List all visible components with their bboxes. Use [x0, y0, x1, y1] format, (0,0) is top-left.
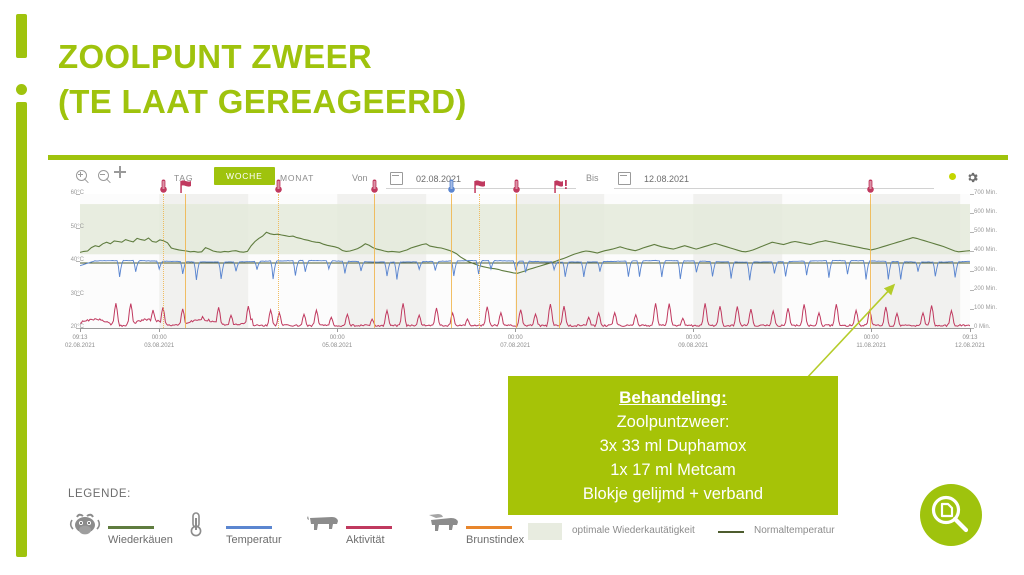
- event-marker-line: [451, 194, 452, 328]
- status-dot: [949, 173, 956, 180]
- y-axis-label-left: 20°C: [71, 324, 84, 330]
- range-button-monat[interactable]: MONAT: [280, 173, 314, 183]
- legend-item: Aktivität: [306, 510, 421, 550]
- y-axis-label-right: 100 Min.: [974, 305, 997, 311]
- y-axis-label-right: 600 Min.: [974, 209, 997, 215]
- event-marker-line: [374, 194, 375, 328]
- x-axis-label: 00:0003.08.2021: [129, 335, 189, 350]
- thermometer-red-icon[interactable]: [511, 179, 522, 194]
- legend-item: Temperatur: [186, 510, 301, 550]
- from-label: Von: [352, 173, 368, 183]
- flag-red-icon[interactable]: [474, 179, 485, 194]
- flag-red-icon[interactable]: [180, 179, 191, 194]
- cow-mounting-icon: [426, 512, 460, 538]
- x-tick: [871, 328, 872, 332]
- event-marker-line: [163, 194, 165, 328]
- page-title-line-1: ZOOLPUNT ZWEER: [58, 34, 918, 79]
- y-axis-label-left: 40°C: [71, 257, 84, 263]
- calendar-icon: [618, 172, 631, 185]
- plot-canvas: [80, 194, 970, 328]
- event-marker-line: [559, 194, 560, 328]
- legend: LEGENDE: WiederkäuenTemperaturAktivitätB…: [68, 488, 968, 554]
- optimal-band-swatch: [528, 523, 562, 540]
- flag-alert-red-icon[interactable]: [554, 179, 565, 194]
- legend-extra-label: Normaltemperatur: [754, 525, 835, 536]
- x-tick: [80, 328, 81, 332]
- thermometer-red-icon[interactable]: [865, 179, 876, 194]
- legend-title: LEGENDE:: [68, 488, 131, 500]
- y-axis-label-right: 500 Min.: [974, 228, 997, 234]
- event-marker-line: [870, 194, 871, 328]
- x-axis-label: 00:0009.08.2021: [663, 335, 723, 350]
- chart-widget: TAG WOCHE MONAT Von 02.08.2021 Bis 12.08…: [48, 166, 1008, 371]
- legend-color-swatch: [346, 526, 392, 529]
- legend-color-swatch: [108, 526, 154, 529]
- legend-extra-label: optimale Wiederkautätigkeit: [572, 525, 695, 536]
- event-marker-line: [185, 194, 186, 328]
- event-marker-line: [278, 194, 280, 328]
- legend-item: Brunstindex: [426, 510, 541, 550]
- accent-bar-top: [16, 14, 27, 58]
- gear-icon[interactable]: [966, 171, 979, 184]
- y-axis-label-left: 60°C: [71, 190, 84, 196]
- x-axis-label: 09:1302.08.2021: [50, 335, 110, 350]
- zoom-in-icon[interactable]: [76, 170, 92, 186]
- event-marker-line: [479, 194, 481, 328]
- thermometer-red-icon[interactable]: [273, 179, 284, 194]
- thermometer-icon: [186, 512, 220, 538]
- y-axis-label-right: 400 Min.: [974, 247, 997, 253]
- legend-color-swatch: [226, 526, 272, 529]
- calendar-icon: [390, 172, 403, 185]
- range-button-woche[interactable]: WOCHE: [214, 167, 275, 185]
- x-axis-label: 09:1312.08.2021: [940, 335, 1000, 350]
- cow-head-icon: [68, 512, 102, 538]
- magnifier-history-icon[interactable]: [920, 484, 982, 546]
- to-label: Bis: [586, 173, 599, 183]
- title-underline-rule: [48, 155, 1008, 160]
- x-tick: [159, 328, 160, 332]
- legend-item-label: Temperatur: [226, 534, 282, 546]
- to-date-field[interactable]: 12.08.2021: [614, 168, 934, 189]
- y-axis-label-left: 30°C: [71, 291, 84, 297]
- x-tick: [337, 328, 338, 332]
- fit-screen-icon[interactable]: [120, 172, 136, 188]
- thermometer-blue-icon[interactable]: [446, 179, 457, 194]
- legend-item-label: Wiederkäuen: [108, 534, 173, 546]
- x-axis-label: 00:0011.08.2021: [841, 335, 901, 350]
- page-title: ZOOLPUNT ZWEER (TE LAAT GEREAGEERD): [58, 34, 918, 124]
- legend-item: Wiederkäuen: [68, 510, 183, 550]
- accent-bar-bottom: [16, 102, 27, 557]
- thermometer-red-icon[interactable]: [369, 179, 380, 194]
- y-axis-label-right: 0 Min.: [974, 324, 990, 330]
- x-tick: [693, 328, 694, 332]
- y-axis-label-right: 300 Min.: [974, 267, 997, 273]
- to-date-value: 12.08.2021: [644, 174, 689, 184]
- normal-temperature-line-swatch: [718, 531, 744, 533]
- chart-plot[interactable]: 20°C30°C40°C50°C60°C0 Min.100 Min.200 Mi…: [48, 194, 1008, 344]
- x-axis-label: 00:0007.08.2021: [485, 335, 545, 350]
- y-axis-label-right: 200 Min.: [974, 286, 997, 292]
- legend-item-label: Aktivität: [346, 534, 385, 546]
- x-axis-line: [80, 328, 970, 329]
- legend-color-swatch: [466, 526, 512, 529]
- x-tick: [515, 328, 516, 332]
- y-axis-label-right: 700 Min.: [974, 190, 997, 196]
- y-axis-label-left: 50°C: [71, 224, 84, 230]
- x-tick: [970, 328, 971, 332]
- x-axis-label: 00:0005.08.2021: [307, 335, 367, 350]
- accent-bar-dot: [16, 84, 27, 95]
- callout-line-1: Zoolpuntzweer:: [508, 410, 838, 434]
- page-title-line-2: (TE LAAT GEREAGEERD): [58, 79, 918, 124]
- callout-heading: Behandeling:: [508, 386, 838, 410]
- event-marker-line: [516, 194, 517, 328]
- legend-item-label: Brunstindex: [466, 534, 524, 546]
- series-svg: [80, 194, 970, 328]
- callout-line-3: 1x 17 ml Metcam: [508, 458, 838, 482]
- cow-walking-icon: [306, 512, 340, 538]
- thermometer-red-icon[interactable]: [158, 179, 169, 194]
- callout-line-2: 3x 33 ml Duphamox: [508, 434, 838, 458]
- zoom-out-icon[interactable]: [98, 170, 114, 186]
